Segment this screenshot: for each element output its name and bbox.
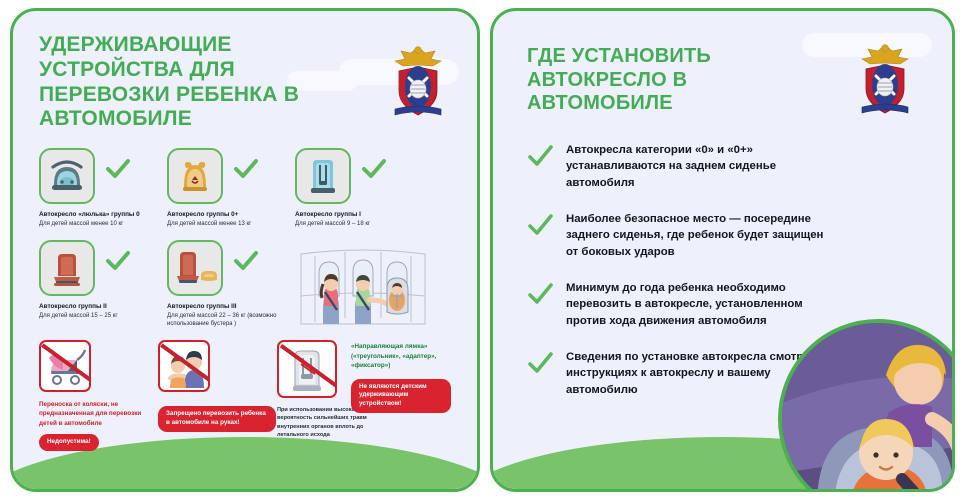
check-icon xyxy=(105,248,131,274)
seat-row: Автокресло группы II Для детей массой 15… xyxy=(39,240,455,328)
car-seat-group-1-icon xyxy=(301,154,345,198)
seat-icon-frame xyxy=(39,240,95,296)
warning-1: Запрещено перевозить ребенка в автомобил… xyxy=(158,340,277,450)
warning-2: При использовании высока вероятность сил… xyxy=(277,340,455,450)
pram-carrycot-prohibited-icon xyxy=(39,340,91,392)
list-item-text: Минимум до года ребенка необходимо перев… xyxy=(566,280,834,330)
left-panel-title: УДЕРЖИВАЮЩИЕ УСТРОЙСТВА ДЛЯ ПЕРЕВОЗКИ РЕ… xyxy=(39,33,369,132)
guide-strap-note: «Направляющая лямка» («треугольник», «ад… xyxy=(351,342,455,370)
seat-spec: Для детей массой 22 – 36 кг (возможно ис… xyxy=(167,313,295,329)
seat-grid: Автокресло «люлька» группы 0 Для детей м… xyxy=(39,148,455,328)
check-icon xyxy=(527,281,554,308)
warning-badge: Недопустима! xyxy=(39,434,99,451)
check-icon xyxy=(527,143,554,170)
seat-label: Автокресло «люлька» группы 0 xyxy=(39,211,155,219)
seat-icon-frame xyxy=(39,148,95,204)
mvd-emblem xyxy=(387,41,449,121)
car-interior-rear-seat-illustration xyxy=(297,244,429,330)
seat-icon-frame xyxy=(167,148,223,204)
infant-carrier-icon xyxy=(45,154,89,198)
seat-label: Автокресло группы I xyxy=(295,211,411,219)
seat-spec: Для детей массой 15 – 25 кг xyxy=(39,313,167,321)
car-seat-group-0plus-icon xyxy=(173,154,217,198)
seat-cell-0: Автокресло «люлька» группы 0 Для детей м… xyxy=(39,148,167,228)
right-panel-title: ГДЕ УСТАНОВИТЬ АВТОКРЕСЛО В АВТОМОБИЛЕ xyxy=(527,45,827,116)
seat-spec: Для детей массой 9 – 18 кг xyxy=(295,221,423,229)
car-illustration-cell xyxy=(295,240,445,328)
check-icon xyxy=(527,350,554,377)
left-panel-card: УДЕРЖИВАЮЩИЕ УСТРОЙСТВА ДЛЯ ПЕРЕВОЗКИ РЕ… xyxy=(10,8,480,492)
seat-spec: Для детей массой менее 13 кг xyxy=(167,221,295,229)
check-icon xyxy=(527,212,554,239)
seat-cell-1: Автокресло группы 0+ Для детей массой ме… xyxy=(167,148,295,228)
warning-text: Переноска от коляски, не предназначенная… xyxy=(39,400,151,427)
check-icon xyxy=(233,248,259,274)
list-item-text: Наиболее безопасное место — посередине з… xyxy=(566,211,834,261)
guide-strap-prohibited-icon xyxy=(277,340,337,398)
right-panel-card: ГДЕ УСТАНОВИТЬ АВТОКРЕСЛО В АВТОМОБИЛЕ А… xyxy=(490,8,955,492)
seat-cell-2: Автокресло группы I Для детей массой 9 –… xyxy=(295,148,423,228)
car-seat-group-3-icon xyxy=(171,246,219,290)
list-item: Наиболее безопасное место — посередине з… xyxy=(527,211,930,261)
warnings-row: Переноска от коляски, не предназначенная… xyxy=(39,340,455,450)
seat-icon-frame xyxy=(167,240,223,296)
seat-spec: Для детей массой менее 10 кг xyxy=(39,221,167,229)
seat-label: Автокресло группы II xyxy=(39,303,155,311)
warning-0: Переноска от коляски, не предназначенная… xyxy=(39,340,158,450)
warning-badge: Запрещено перевозить ребенка в автомобил… xyxy=(158,406,276,432)
seat-row: Автокресло «люлька» группы 0 Для детей м… xyxy=(39,148,455,228)
car-seat-group-2-icon xyxy=(45,246,89,290)
list-item-text: Автокресла категории «0» и «0+» устанавл… xyxy=(566,142,834,192)
seat-label: Автокресло группы III xyxy=(167,303,283,311)
check-icon xyxy=(361,156,387,182)
child-in-arms-prohibited-icon xyxy=(158,340,210,392)
seat-label: Автокресло группы 0+ xyxy=(167,211,283,219)
warning-badge: Не являются детским удерживающим устройс… xyxy=(351,379,451,413)
mvd-emblem xyxy=(854,39,916,119)
seat-cell-3: Автокресло группы II Для детей массой 15… xyxy=(39,240,167,328)
seat-icon-frame xyxy=(295,148,351,204)
check-icon xyxy=(105,156,131,182)
check-icon xyxy=(233,156,259,182)
seat-cell-4: Автокресло группы III Для детей массой 2… xyxy=(167,240,295,328)
infographic-root: УДЕРЖИВАЮЩИЕ УСТРОЙСТВА ДЛЯ ПЕРЕВОЗКИ РЕ… xyxy=(0,0,965,500)
list-item: Автокресла категории «0» и «0+» устанавл… xyxy=(527,142,930,192)
